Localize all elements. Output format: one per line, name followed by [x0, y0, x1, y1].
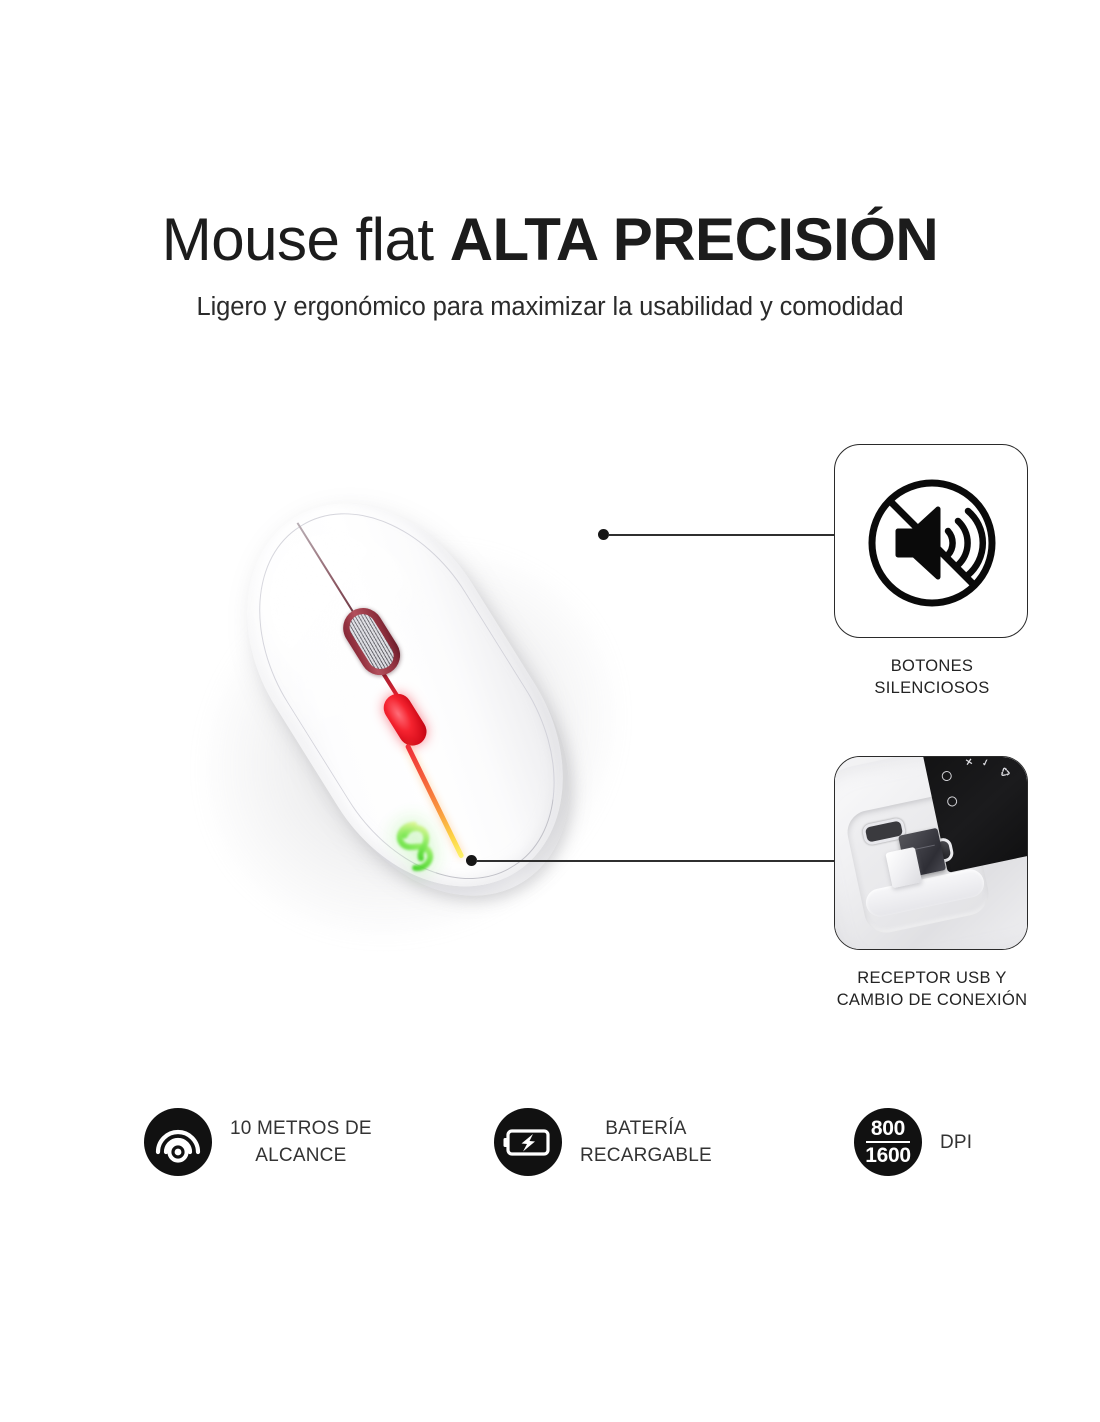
feature-label-range: 10 METROS DE ALCANCE: [230, 1115, 372, 1169]
callout-silent-buttons: BOTONES SILENCIOSOS: [834, 444, 1030, 699]
page-subtitle: Ligero y ergonómico para maximizar la us…: [0, 291, 1100, 323]
connector-line-usb-receiver: [476, 860, 835, 862]
feature-label-dpi: DPI: [940, 1129, 972, 1156]
feature-range: 10 METROS DE ALCANCE: [144, 1108, 372, 1176]
feature-label-battery: BATERÍA RECARGABLE: [580, 1115, 712, 1169]
page-title-light: Mouse flat: [162, 206, 450, 273]
feature-row: 10 METROS DE ALCANCE BATERÍA RECARGABLE …: [0, 1108, 1100, 1204]
infographic-page: Mouse flat ALTA PRECISIÓN Ligero y ergon…: [0, 0, 1100, 1422]
connector-line-silent-buttons: [608, 534, 835, 536]
cert-mark-2: [946, 796, 958, 808]
dpi-fraction-rule: [866, 1141, 910, 1144]
usb-receiver-photo: MODEL: SUB-MOU-11005 · DC 5V · MADE IN C…: [835, 757, 1027, 949]
cert-glyph-ce: ✓: [981, 758, 990, 768]
callout-usb-receiver: MODEL: SUB-MOU-11005 · DC 5V · MADE IN C…: [834, 756, 1030, 1011]
product-image-mouse: [150, 430, 660, 960]
dpi-fraction-badge: 800 1600: [854, 1108, 922, 1176]
callout-label-usb-receiver: RECEPTOR USB Y CAMBIO DE CONEXIÓN: [834, 967, 1030, 1011]
feature-dpi: 800 1600 DPI: [854, 1108, 972, 1176]
dpi-value-high: 1600: [865, 1144, 911, 1167]
cert-mark-1: [941, 770, 953, 782]
cert-glyph-recycle: ♺: [1000, 768, 1012, 779]
cert-glyph-fcc: ✕: [965, 757, 974, 767]
mute-speaker-icon: [862, 473, 1002, 613]
page-title: Mouse flat ALTA PRECISIÓN: [0, 205, 1100, 275]
mouse-graphic: [48, 335, 761, 1055]
dpi-value-low: 800: [871, 1117, 905, 1140]
callout-label-silent-buttons: BOTONES SILENCIOSOS: [834, 655, 1030, 699]
feature-battery: BATERÍA RECARGABLE: [494, 1108, 712, 1176]
callout-box-usb-receiver: MODEL: SUB-MOU-11005 · DC 5V · MADE IN C…: [834, 756, 1028, 950]
wireless-signal-badge: [144, 1108, 212, 1176]
page-title-bold: ALTA PRECISIÓN: [450, 206, 939, 273]
header: Mouse flat ALTA PRECISIÓN Ligero y ergon…: [0, 205, 1100, 323]
battery-charging-badge: [494, 1108, 562, 1176]
callout-box-silent-buttons: [834, 444, 1028, 638]
